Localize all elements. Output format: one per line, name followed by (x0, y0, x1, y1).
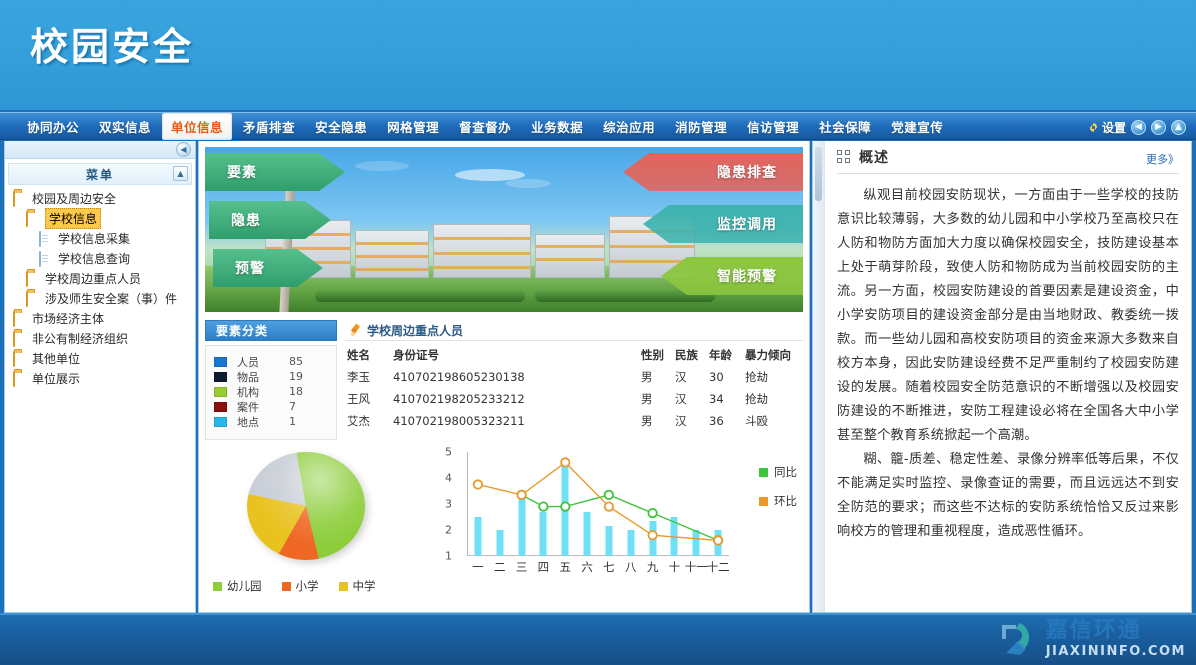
overview-title: 概述 (859, 147, 889, 167)
sidebar-item-label: 学校信息 (45, 208, 101, 229)
sidebar-item-7[interactable]: 非公有制经济组织 (5, 328, 195, 348)
banner-right-arrow-0[interactable]: 隐患排查 (623, 153, 803, 191)
pie-chart-graphic (247, 452, 365, 560)
trend-legend-label: 环比 (774, 493, 797, 509)
element-legend-label: 物品 (237, 369, 289, 385)
table-cell: 汉 (673, 410, 707, 432)
banner-left-arrow-label: 隐患 (231, 210, 261, 230)
color-swatch (759, 497, 768, 506)
table-row[interactable]: 王风410702198205233212男汉34抢劫 (345, 388, 803, 410)
folder-icon (26, 272, 41, 285)
nav-right-tools: 设置 ◀ ▶ ▲ (1088, 113, 1186, 141)
nav-item-4[interactable]: 安全隐患 (306, 113, 376, 140)
overview-scrollbar[interactable] (813, 141, 825, 612)
sidebar-tree: 校园及周边安全学校信息学校信息采集学校信息查询学校周边重点人员涉及师生安全案（事… (5, 188, 195, 388)
table-cell: 30 (707, 366, 743, 388)
key-people-header: 学校周边重点人员 (345, 320, 803, 341)
color-swatch (759, 468, 768, 477)
color-swatch (214, 357, 227, 367)
table-cell: 34 (707, 388, 743, 410)
banner-right-arrow-label: 隐患排查 (717, 162, 777, 182)
color-swatch (214, 372, 227, 382)
x-tick-label: 八 (625, 559, 637, 575)
banner-left-arrow-label: 预警 (235, 258, 265, 278)
data-panels-row: 要素分类 人员85物品19机构18案件7地点1 学校周边重点人员 姓名身份证号性… (205, 320, 803, 440)
sidebar-collapse-icon[interactable]: ◀ (176, 142, 191, 157)
table-cell: 410702198605230138 (391, 366, 639, 388)
x-tick-label: 六 (581, 559, 593, 575)
key-people-table: 姓名身份证号性别民族年龄暴力倾向 李玉410702198605230138男汉3… (345, 344, 803, 432)
sidebar-item-label: 学校信息采集 (58, 230, 130, 247)
table-cell: 抢劫 (743, 366, 803, 388)
banner-left-arrow-label: 要素 (227, 162, 257, 182)
key-people-title: 学校周边重点人员 (367, 322, 463, 339)
sidebar-item-0[interactable]: 校园及周边安全 (5, 188, 195, 208)
column-header: 民族 (673, 344, 707, 366)
element-legend-row: 人员85 (214, 354, 330, 369)
sidebar-item-label: 其他单位 (32, 350, 80, 367)
table-cell: 男 (639, 410, 673, 432)
element-legend-value: 1 (289, 415, 296, 428)
table-cell: 男 (639, 388, 673, 410)
color-swatch (214, 417, 227, 427)
x-tick-label: 十 (669, 559, 681, 575)
sidebar-item-6[interactable]: 市场经济主体 (5, 308, 195, 328)
sidebar-item-label: 学校信息查询 (58, 250, 130, 267)
element-legend-value: 7 (289, 400, 296, 413)
element-legend-value: 18 (289, 385, 303, 398)
element-legend-row: 机构18 (214, 384, 330, 399)
watermark-logo-icon (996, 619, 1040, 659)
sidebar-item-label: 单位展示 (32, 370, 80, 387)
nav-item-5[interactable]: 网格管理 (378, 113, 448, 140)
pie-legend-label: 幼儿园 (227, 578, 262, 594)
table-cell: 410702198005323211 (391, 410, 639, 432)
sidebar-item-2[interactable]: 学校信息采集 (5, 228, 195, 248)
element-category-panel: 要素分类 人员85物品19机构18案件7地点1 (205, 320, 337, 440)
color-swatch (339, 582, 348, 591)
element-category-legend: 人员85物品19机构18案件7地点1 (205, 345, 337, 440)
main-navigation: 协同办公双实信息单位信息矛盾排查安全隐患网格管理督查督办业务数据综治应用消防管理… (0, 112, 1196, 140)
trend-legend-label: 同比 (774, 464, 797, 480)
x-tick-label: 二 (494, 559, 506, 575)
sidebar-item-label: 学校周边重点人员 (45, 270, 141, 287)
sidebar-menu-header: 菜单 ▲ (8, 163, 192, 185)
trend-legend-item: 同比 (759, 464, 797, 480)
column-header: 身份证号 (391, 344, 639, 366)
x-tick-label: 十二 (707, 559, 730, 575)
trend-chart: 12345 一二三四五六七八九十十一十二 同比环比 (437, 448, 803, 578)
x-tick-label: 四 (538, 559, 550, 575)
x-tick-label: 五 (560, 559, 572, 575)
element-legend-label: 人员 (237, 354, 289, 370)
element-legend-row: 地点1 (214, 414, 330, 429)
content-area: ◀ 菜单 ▲ 校园及周边安全学校信息学校信息采集学校信息查询学校周边重点人员涉及… (0, 141, 1196, 613)
folder-icon (13, 312, 28, 325)
pie-legend-item: 小学 (282, 578, 319, 594)
banner-right-arrow-label: 监控调用 (717, 214, 777, 234)
table-cell: 汉 (673, 388, 707, 410)
pie-legend-label: 中学 (353, 578, 376, 594)
watermark-cn: 嘉信环通 (1046, 620, 1186, 642)
color-swatch (282, 582, 291, 591)
nav-item-11[interactable]: 社会保障 (810, 113, 880, 140)
key-people-panel: 学校周边重点人员 姓名身份证号性别民族年龄暴力倾向 李玉410702198605… (345, 320, 803, 440)
column-header: 年龄 (707, 344, 743, 366)
menu-collapse-icon[interactable]: ▲ (173, 166, 188, 181)
sidebar-item-label: 市场经济主体 (32, 310, 104, 327)
nav-item-9[interactable]: 消防管理 (666, 113, 736, 140)
pie-legend-item: 幼儿园 (213, 578, 262, 594)
overview-paragraph: 糊、籠-质差、稳定性差、录像分辨率低等后果，不仅不能满足实时监控、录像查证的需要… (837, 448, 1179, 544)
nav-item-10[interactable]: 信访管理 (738, 113, 808, 140)
pencil-icon (349, 324, 361, 336)
table-cell: 艾杰 (345, 410, 391, 432)
gear-icon (1088, 122, 1099, 133)
x-tick-label: 三 (516, 559, 528, 575)
sidebar-item-label: 非公有制经济组织 (32, 330, 128, 347)
x-tick-label: 七 (603, 559, 615, 575)
nav-prev-button[interactable]: ◀ (1131, 120, 1146, 135)
overview-panel: 概述 更多》 纵观目前校园安防现状，一方面由于一些学校的技防意识比较薄弱，大多数… (812, 141, 1192, 613)
folder-icon (13, 352, 28, 365)
column-header: 姓名 (345, 344, 391, 366)
watermark-en: JIAXININFO.COM (1046, 645, 1186, 658)
x-tick-label: 十一 (685, 559, 708, 575)
trend-chart-legend: 同比环比 (759, 464, 797, 509)
nav-item-1[interactable]: 双实信息 (90, 113, 160, 140)
table-header-row: 姓名身份证号性别民族年龄暴力倾向 (345, 344, 803, 366)
overview-more-link[interactable]: 更多》 (1146, 151, 1179, 167)
nav-item-6[interactable]: 督查督办 (450, 113, 520, 140)
overview-paragraph: 纵观目前校园安防现状，一方面由于一些学校的技防意识比较薄弱，大多数的幼儿园和中小… (837, 184, 1179, 448)
table-row[interactable]: 艾杰410702198005323211男汉36斗殴 (345, 410, 803, 432)
scrollbar-thumb[interactable] (815, 147, 822, 201)
folder-icon (13, 332, 28, 345)
column-header: 性别 (639, 344, 673, 366)
banner-right-arrow-2[interactable]: 智能预警 (661, 257, 803, 295)
element-legend-label: 案件 (237, 399, 289, 415)
element-category-title: 要素分类 (205, 320, 337, 341)
folder-open-icon (26, 212, 41, 225)
settings-label: 设置 (1102, 119, 1126, 136)
overview-body: 纵观目前校园安防现状，一方面由于一些学校的技防意识比较薄弱，大多数的幼儿园和中小… (837, 184, 1179, 544)
nav-next-button[interactable]: ▶ (1151, 120, 1166, 135)
center-panel: 要素隐患预警 隐患排查监控调用智能预警 要素分类 人员85物品19机构18案件7… (198, 141, 810, 613)
nav-up-button[interactable]: ▲ (1171, 120, 1186, 135)
footer-divider (0, 613, 1196, 615)
color-swatch (213, 582, 222, 591)
settings-button[interactable]: 设置 (1088, 119, 1126, 136)
sidebar-item-9[interactable]: 单位展示 (5, 368, 195, 388)
charts-row: 幼儿园小学中学 12345 一二三四五六七八九十十一十二 同比环比 (205, 448, 803, 578)
pie-chart: 幼儿园小学中学 (205, 448, 437, 578)
table-cell: 410702198205233212 (391, 388, 639, 410)
x-tick-label: 九 (647, 559, 659, 575)
pie-chart-legend: 幼儿园小学中学 (213, 578, 376, 594)
trend-legend-item: 环比 (759, 493, 797, 509)
page-title: 校园安全 (30, 16, 194, 71)
app-footer: 嘉信环通 JIAXININFO.COM (0, 613, 1196, 665)
table-cell: 36 (707, 410, 743, 432)
element-legend-row: 物品19 (214, 369, 330, 384)
overview-inner: 概述 更多》 纵观目前校园安防现状，一方面由于一些学校的技防意识比较薄弱，大多数… (825, 141, 1191, 612)
nav-item-3[interactable]: 矛盾排查 (234, 113, 304, 140)
app-header: 校园安全 (0, 0, 1196, 110)
table-row[interactable]: 李玉410702198605230138男汉30抢劫 (345, 366, 803, 388)
page-icon (39, 232, 54, 245)
folder-open-icon (13, 192, 28, 205)
table-cell: 男 (639, 366, 673, 388)
table-cell: 王风 (345, 388, 391, 410)
table-cell: 汉 (673, 366, 707, 388)
table-cell: 抢劫 (743, 388, 803, 410)
folder-icon (13, 372, 28, 385)
sidebar-item-4[interactable]: 学校周边重点人员 (5, 268, 195, 288)
sidebar-item-3[interactable]: 学校信息查询 (5, 248, 195, 268)
nav-item-7[interactable]: 业务数据 (522, 113, 592, 140)
folder-icon (26, 292, 41, 305)
element-legend-value: 19 (289, 370, 303, 383)
nav-item-8[interactable]: 综治应用 (594, 113, 664, 140)
element-legend-label: 地点 (237, 414, 289, 430)
sidebar: ◀ 菜单 ▲ 校园及周边安全学校信息学校信息采集学校信息查询学校周边重点人员涉及… (4, 141, 196, 613)
element-legend-value: 85 (289, 355, 303, 368)
sidebar-item-label: 校园及周边安全 (32, 190, 116, 207)
column-header: 暴力倾向 (743, 344, 803, 366)
nav-item-0[interactable]: 协同办公 (18, 113, 88, 140)
overview-header: 概述 更多》 (837, 147, 1179, 174)
watermark: 嘉信环通 JIAXININFO.COM (996, 619, 1186, 659)
banner-left-arrow-2[interactable]: 预警 (213, 249, 323, 287)
pie-legend-item: 中学 (339, 578, 376, 594)
pie-legend-label: 小学 (296, 578, 319, 594)
banner-left-arrow-0[interactable]: 要素 (205, 153, 345, 191)
watermark-text: 嘉信环通 JIAXININFO.COM (1046, 620, 1186, 658)
sidebar-menu-title: 菜单 (86, 166, 114, 183)
table-cell: 斗殴 (743, 410, 803, 432)
element-legend-row: 案件7 (214, 399, 330, 414)
nav-item-list: 协同办公双实信息单位信息矛盾排查安全隐患网格管理督查督办业务数据综治应用消防管理… (18, 113, 954, 140)
nav-item-12[interactable]: 党建宣传 (882, 113, 952, 140)
grid-icon (837, 150, 851, 164)
sidebar-item-8[interactable]: 其他单位 (5, 348, 195, 368)
chart-series-layer (467, 452, 729, 556)
hero-banner: 要素隐患预警 隐患排查监控调用智能预警 (205, 147, 803, 312)
banner-left-arrow-1[interactable]: 隐患 (209, 201, 331, 239)
table-cell: 李玉 (345, 366, 391, 388)
nav-item-2[interactable]: 单位信息 (162, 113, 232, 140)
sidebar-item-label: 涉及师生安全案（事）件 (45, 290, 177, 307)
sidebar-item-1[interactable]: 学校信息 (5, 208, 195, 228)
color-swatch (214, 387, 227, 397)
banner-right-arrow-label: 智能预警 (717, 266, 777, 286)
element-legend-label: 机构 (237, 384, 289, 400)
x-tick-label: 一 (472, 559, 484, 575)
banner-right-arrow-1[interactable]: 监控调用 (643, 205, 803, 243)
color-swatch (214, 402, 227, 412)
sidebar-item-5[interactable]: 涉及师生安全案（事）件 (5, 288, 195, 308)
sidebar-topbar: ◀ (5, 141, 195, 159)
trend-chart-plot (467, 452, 729, 556)
page-icon (39, 252, 54, 265)
